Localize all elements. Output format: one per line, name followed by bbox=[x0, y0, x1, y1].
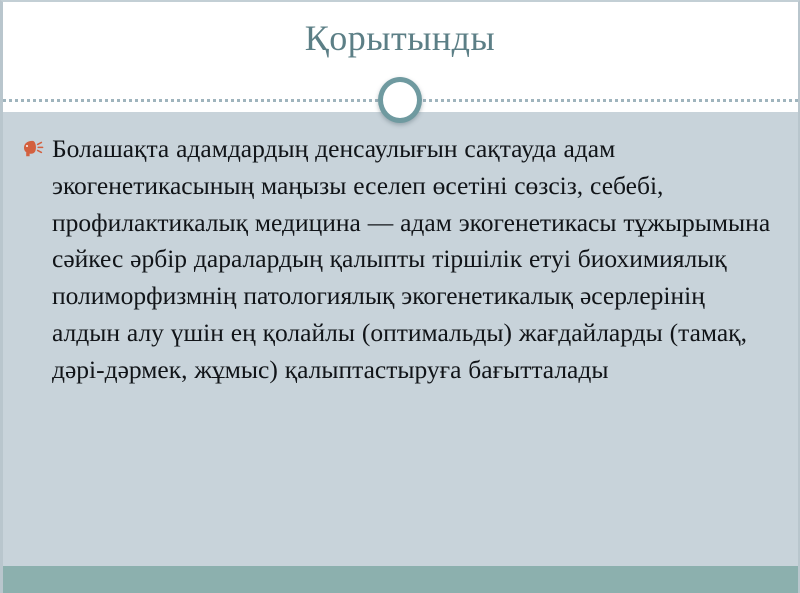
ring-ornament-icon bbox=[378, 77, 422, 123]
slide-title: Қорытынды bbox=[0, 17, 800, 59]
presentation-slide: Stud.kz Stud.kz Stud.kz Қорытынды bbox=[0, 0, 800, 593]
slide-content: Болашақта адамдардың денсаулығын сақтауд… bbox=[22, 131, 778, 389]
bullet-list-item: Болашақта адамдардың денсаулығын сақтауд… bbox=[22, 131, 778, 389]
slide-bottom-accent-bar bbox=[0, 566, 800, 593]
speaking-head-icon bbox=[22, 139, 46, 159]
ring-ornament-inner bbox=[387, 86, 413, 114]
body-paragraph: Болашақта адамдардың денсаулығын сақтауд… bbox=[52, 131, 778, 389]
